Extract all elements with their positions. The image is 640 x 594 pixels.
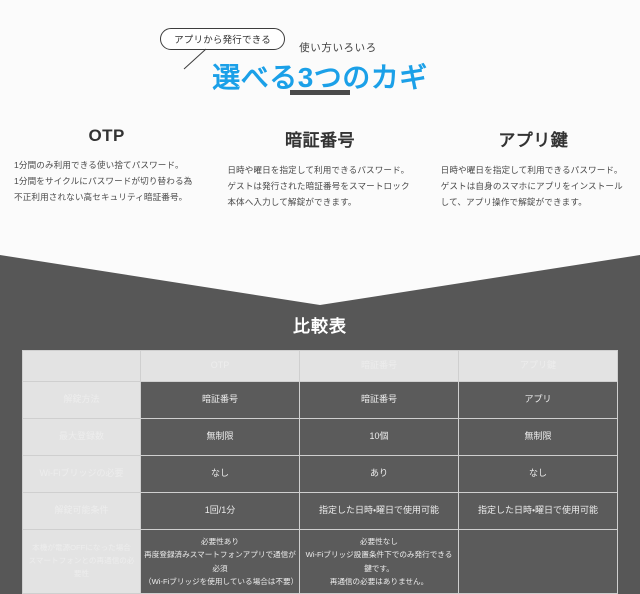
feature-title: アプリ鍵	[441, 126, 626, 151]
feature-title: 暗証番号	[227, 126, 412, 151]
table-cell: アプリ	[459, 382, 618, 419]
table-cell: 無制限	[459, 419, 618, 456]
table-row-label: 解錠方法	[23, 382, 141, 419]
feature-description-line: して、アプリ操作で解錠ができます。	[441, 195, 626, 211]
feature-description-line: 1分間のみ利用できる使い捨てパスワード。	[14, 158, 199, 174]
table-cell: 暗証番号	[300, 382, 459, 419]
table-header-appkey: アプリ鍵	[459, 351, 618, 382]
feature-description-line: 本体へ入力して解錠ができます。	[227, 195, 412, 211]
hero-section: アプリから発行できる 使い方いろいろ 選べる3つのカギ OTP 1分間のみ利用で…	[0, 0, 640, 310]
table-cell: なし	[141, 456, 300, 493]
feature-column-otp: OTP 1分間のみ利用できる使い捨てパスワード。 1分間をサイクルにパスワードが…	[0, 126, 213, 211]
table-cell-line: 再通信の必要はありません。	[303, 575, 455, 588]
table-cell: 必要性あり 再度登録済みスマートフォンアプリで通信が必須 （Wi-Fiブリッジを…	[141, 530, 300, 594]
table-row-label: 最大登録数	[23, 419, 141, 456]
table-cell: 1回/1分	[141, 493, 300, 530]
feature-description: 日時や曜日を指定して利用できるパスワード。 ゲストは自身のスマホにアプリをインス…	[441, 163, 626, 211]
feature-description-line: 日時や曜日を指定して利用できるパスワード。	[441, 163, 626, 179]
table-cell: 指定した日時・曜日で使用可能	[459, 493, 618, 530]
table-cell: 指定した日時・曜日で使用可能	[300, 493, 459, 530]
feature-title: OTP	[14, 126, 199, 146]
table-row: Wi-Fiブリッジの必要 なし あり なし	[23, 456, 618, 493]
table-cell-empty	[459, 530, 618, 594]
table-header-blank	[23, 351, 141, 382]
table-cell: 暗証番号	[141, 382, 300, 419]
table-row: 解錠方法 暗証番号 暗証番号 アプリ	[23, 382, 618, 419]
comparison-table: OTP 暗証番号 アプリ鍵 解錠方法 暗証番号 暗証番号 アプリ 最大登録数 無…	[22, 350, 618, 594]
table-cell: 必要性なし Wi-Fiブリッジ設置条件下でのみ発行できる鍵です。 再通信の必要は…	[300, 530, 459, 594]
table-cell-line: 再度登録済みスマートフォンアプリで通信が必須	[144, 548, 296, 575]
table-cell: なし	[459, 456, 618, 493]
table-cell: 10個	[300, 419, 459, 456]
comparison-table-heading: 比較表	[0, 312, 640, 337]
hero-subtitle: 使い方いろいろ	[0, 40, 640, 55]
title-divider	[290, 90, 350, 95]
table-cell-line: 必要性あり	[144, 535, 296, 548]
table-row-label-line: 本機が電源OFFになった場合	[26, 542, 137, 555]
feature-description: 1分間のみ利用できる使い捨てパスワード。 1分間をサイクルにパスワードが切り替わ…	[14, 158, 199, 206]
table-row-label: 解錠可能条件	[23, 493, 141, 530]
table-header-otp: OTP	[141, 351, 300, 382]
table-cell: あり	[300, 456, 459, 493]
table-row-label-line: スマートフォンとの再通信の必要性	[26, 555, 137, 581]
table-row: 本機が電源OFFになった場合 スマートフォンとの再通信の必要性 必要性あり 再度…	[23, 530, 618, 594]
table-row: 最大登録数 無制限 10個 無制限	[23, 419, 618, 456]
feature-description: 日時や曜日を指定して利用できるパスワード。 ゲストは発行された暗証番号をスマート…	[227, 163, 412, 211]
table-row-label: Wi-Fiブリッジの必要	[23, 456, 141, 493]
table-cell: 無制限	[141, 419, 300, 456]
table-row: 解錠可能条件 1回/1分 指定した日時・曜日で使用可能 指定した日時・曜日で使用…	[23, 493, 618, 530]
feature-column-appkey: アプリ鍵 日時や曜日を指定して利用できるパスワード。 ゲストは自身のスマホにアプ…	[427, 126, 640, 211]
feature-description-line: ゲストは自身のスマホにアプリをインストール	[441, 179, 626, 195]
table-row-label: 本機が電源OFFになった場合 スマートフォンとの再通信の必要性	[23, 530, 141, 594]
feature-description-line: ゲストは発行された暗証番号をスマートロック	[227, 179, 412, 195]
feature-columns: OTP 1分間のみ利用できる使い捨てパスワード。 1分間をサイクルにパスワードが…	[0, 126, 640, 211]
table-cell-line: Wi-Fiブリッジ設置条件下でのみ発行できる鍵です。	[303, 548, 455, 575]
table-cell-line: （Wi-Fiブリッジを使用している場合は不要）	[144, 575, 296, 588]
table-cell-line: 必要性なし	[303, 535, 455, 548]
feature-description-line: 不正利用されない高セキュリティ暗証番号。	[14, 190, 199, 206]
table-header-row: OTP 暗証番号 アプリ鍵	[23, 351, 618, 382]
feature-column-pincode: 暗証番号 日時や曜日を指定して利用できるパスワード。 ゲストは発行された暗証番号…	[213, 126, 426, 211]
feature-description-line: 1分間をサイクルにパスワードが切り替わる為	[14, 174, 199, 190]
table-header-pincode: 暗証番号	[300, 351, 459, 382]
feature-description-line: 日時や曜日を指定して利用できるパスワード。	[227, 163, 412, 179]
